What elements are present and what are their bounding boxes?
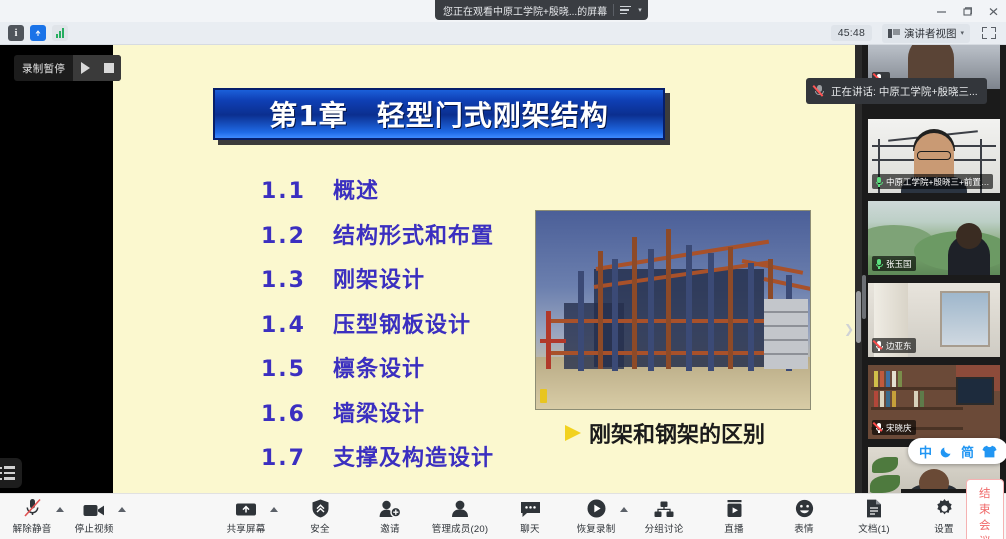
shield-security-icon: [312, 498, 329, 518]
toc-text: 结构形式和布置: [333, 218, 494, 250]
participant-name-badge: 边亚东: [872, 338, 916, 353]
stage-scrollbar[interactable]: [855, 45, 862, 493]
mic-muted-icon: [815, 85, 824, 97]
invite-user-icon: [379, 498, 401, 518]
mic-muted-icon: [24, 498, 41, 518]
toc-item: 1.7 支撑及构造设计: [261, 440, 541, 472]
slide-title: 第1章 轻型门式刚架结构: [213, 88, 665, 140]
manage-participants-button[interactable]: 管理成员(20): [438, 494, 482, 539]
status-toolbar: i 45:48 演讲者视图 ▾: [0, 22, 1006, 45]
gear-icon: [935, 498, 954, 518]
window-controls: [928, 0, 1006, 22]
stop-video-label: 停止视频: [75, 521, 114, 535]
info-icon[interactable]: i: [8, 25, 24, 41]
shield-icon[interactable]: [30, 25, 46, 41]
ime-floating-bar[interactable]: 中 简: [908, 438, 1006, 464]
participant-name: 中原工学院+殷晓三+前置…: [886, 176, 989, 188]
settings-label: 设置: [934, 521, 953, 535]
toc-text: 檩条设计: [333, 351, 425, 383]
toc-item: 1.6 墙梁设计: [261, 396, 541, 428]
resume-recording-button[interactable]: 恢复录制: [574, 494, 618, 539]
toc-item: 1.4 压型钢板设计: [261, 307, 541, 339]
record-options-caret[interactable]: [620, 507, 628, 512]
slide-caption: 刚架和钢架的区别: [565, 417, 765, 449]
document-button[interactable]: 文档(1): [852, 494, 896, 539]
document-icon: [866, 498, 882, 518]
participant-name: 边亚东: [886, 340, 912, 352]
speaking-indicator-text: 正在讲话: 中原工学院+殷晓三...: [831, 84, 978, 99]
unmute-label: 解除静音: [13, 521, 52, 535]
toc-number: 1.6: [261, 402, 333, 427]
audio-control-group: 解除静音: [10, 494, 66, 539]
invite-label: 邀请: [380, 521, 399, 535]
participant-tile[interactable]: 边亚东: [868, 283, 1000, 357]
participant-tile[interactable]: 宋晓庆: [868, 365, 1000, 439]
security-button[interactable]: 安全: [298, 494, 342, 539]
participant-filmstrip[interactable]: 中原工学院+殷晓三+前置… 张玉国 边亚东: [862, 45, 1006, 493]
slide-toc: 1.1 概述 1.2 结构形式和布置 1.3 刚架设计 1.4 压型钢板设计 1…: [261, 173, 541, 485]
resume-recording-button[interactable]: [73, 55, 97, 81]
live-stream-icon: [726, 498, 743, 518]
toc-item: 1.3 刚架设计: [261, 262, 541, 294]
live-stream-button[interactable]: 直播: [712, 494, 756, 539]
steel-frame-construction-photo: [535, 210, 811, 410]
minimize-button[interactable]: [928, 0, 954, 22]
view-mode-label: 演讲者视图: [904, 26, 957, 41]
stop-recording-button[interactable]: [97, 55, 121, 81]
participant-tile-active[interactable]: 中原工学院+殷晓三+前置…: [868, 119, 1000, 193]
toc-item: 1.5 檩条设计: [261, 351, 541, 383]
participant-name-badge: 宋晓庆: [872, 420, 916, 435]
participants-icon: [450, 498, 470, 518]
video-control-group: 停止视频: [72, 494, 128, 539]
audio-options-caret[interactable]: [56, 507, 64, 512]
viewing-screen-text: 您正在观看中原工学院+殷晓...的屏幕: [443, 3, 607, 18]
filmstrip-scrollbar[interactable]: [862, 275, 866, 319]
arrow-bullet-icon: [565, 425, 581, 441]
participant-name-badge: 中原工学院+殷晓三+前置…: [872, 174, 993, 189]
emoji-label: 表情: [794, 521, 813, 535]
collapse-filmstrip-arrow[interactable]: ❯: [843, 317, 855, 341]
share-screen-label: 共享屏幕: [227, 521, 266, 535]
speaking-indicator-toast: 正在讲话: 中原工学院+殷晓三...: [806, 78, 987, 104]
emoji-button[interactable]: 表情: [782, 494, 826, 539]
ime-language-label[interactable]: 中: [919, 442, 932, 461]
recording-control-panel: 录制暂停: [14, 55, 121, 81]
recording-status-label: 录制暂停: [14, 61, 73, 76]
mic-muted-icon: [875, 341, 883, 351]
security-label: 安全: [310, 521, 329, 535]
participant-name: 张玉国: [886, 258, 912, 270]
end-meeting-button[interactable]: 结束会议: [966, 479, 1004, 539]
toc-text: 墙梁设计: [333, 396, 425, 428]
moon-icon[interactable]: [940, 445, 953, 458]
play-icon: [81, 62, 90, 74]
maximize-button[interactable]: [954, 0, 980, 22]
toc-number: 1.3: [261, 268, 333, 293]
record-resume-icon: [587, 498, 606, 518]
chevron-down-icon: ▾: [638, 6, 642, 14]
close-button[interactable]: [980, 0, 1006, 22]
network-signal-icon[interactable]: [52, 25, 68, 41]
speaker-view-icon: [888, 28, 900, 39]
share-group: 共享屏幕: [224, 494, 280, 539]
chat-label: 聊天: [520, 521, 539, 535]
presentation-slide: 第1章 轻型门式刚架结构 1.1 概述 1.2 结构形式和布置 1.3 刚架设计…: [113, 45, 862, 493]
toc-text: 支撑及构造设计: [333, 440, 494, 472]
shared-screen-stage: 第1章 轻型门式刚架结构 1.1 概述 1.2 结构形式和布置 1.3 刚架设计…: [0, 45, 862, 493]
share-screen-icon: [235, 498, 257, 518]
slide-caption-text: 刚架和钢架的区别: [589, 417, 765, 449]
emoji-icon: [795, 498, 814, 518]
toc-text: 概述: [333, 173, 379, 205]
more-options-icon[interactable]: [620, 6, 631, 15]
chat-button[interactable]: 聊天: [508, 494, 552, 539]
resume-recording-label: 恢复录制: [577, 521, 616, 535]
breakout-rooms-label: 分组讨论: [645, 521, 684, 535]
breakout-rooms-icon: [654, 498, 674, 518]
divider: [613, 4, 614, 16]
document-label: 文档(1): [858, 521, 890, 535]
toc-number: 1.4: [261, 313, 333, 338]
meeting-toolbar: 解除静音 停止视频: [0, 493, 1006, 539]
settings-button[interactable]: 设置: [922, 494, 966, 539]
mic-active-icon: [875, 259, 883, 269]
participant-tile[interactable]: 张玉国: [868, 201, 1000, 275]
toc-text: 刚架设计: [333, 262, 425, 294]
stop-icon: [104, 63, 114, 73]
scrollbar-thumb[interactable]: [856, 291, 861, 343]
chevron-down-icon: ▾: [960, 29, 964, 37]
toc-number: 1.7: [261, 446, 333, 471]
unmute-button[interactable]: 解除静音: [10, 494, 54, 539]
viewing-screen-banner[interactable]: 您正在观看中原工学院+殷晓...的屏幕 ▾: [435, 0, 648, 20]
status-right: 45:48 演讲者视图 ▾: [831, 24, 1006, 43]
stop-video-button[interactable]: 停止视频: [72, 494, 116, 539]
toc-text: 压型钢板设计: [333, 307, 471, 339]
status-icons: i: [0, 25, 68, 41]
breakout-rooms-button[interactable]: 分组讨论: [642, 494, 686, 539]
meeting-window: 您正在观看中原工学院+殷晓...的屏幕 ▾ i 45:48 演讲者视图 ▾: [0, 0, 1006, 539]
toc-item: 1.1 概述: [261, 173, 541, 205]
toc-number: 1.2: [261, 224, 333, 249]
share-screen-button[interactable]: 共享屏幕: [224, 494, 268, 539]
view-mode-selector[interactable]: 演讲者视图 ▾: [882, 24, 970, 43]
mic-muted-icon: [875, 423, 883, 433]
manage-participants-label: 管理成员(20): [432, 521, 489, 535]
video-camera-icon: [83, 498, 105, 518]
meeting-timer: 45:48: [831, 25, 872, 41]
record-group: 恢复录制: [574, 494, 630, 539]
toc-number: 1.5: [261, 357, 333, 382]
fullscreen-icon[interactable]: [980, 24, 998, 42]
toc-item: 1.2 结构形式和布置: [261, 218, 541, 250]
participant-name-badge: 张玉国: [872, 256, 916, 271]
video-options-caret[interactable]: [118, 507, 126, 512]
toc-number: 1.1: [261, 179, 333, 204]
slide-title-container: 第1章 轻型门式刚架结构: [213, 88, 665, 144]
shirt-icon[interactable]: [982, 445, 997, 458]
invite-button[interactable]: 邀请: [368, 494, 412, 539]
chat-bubble-icon: [520, 498, 541, 518]
share-options-caret[interactable]: [270, 507, 278, 512]
list-panel-icon[interactable]: [0, 458, 22, 488]
participant-name: 宋晓庆: [886, 422, 912, 434]
live-stream-label: 直播: [724, 521, 743, 535]
ime-mode-label[interactable]: 简: [961, 442, 974, 461]
mic-active-icon: [875, 177, 883, 187]
